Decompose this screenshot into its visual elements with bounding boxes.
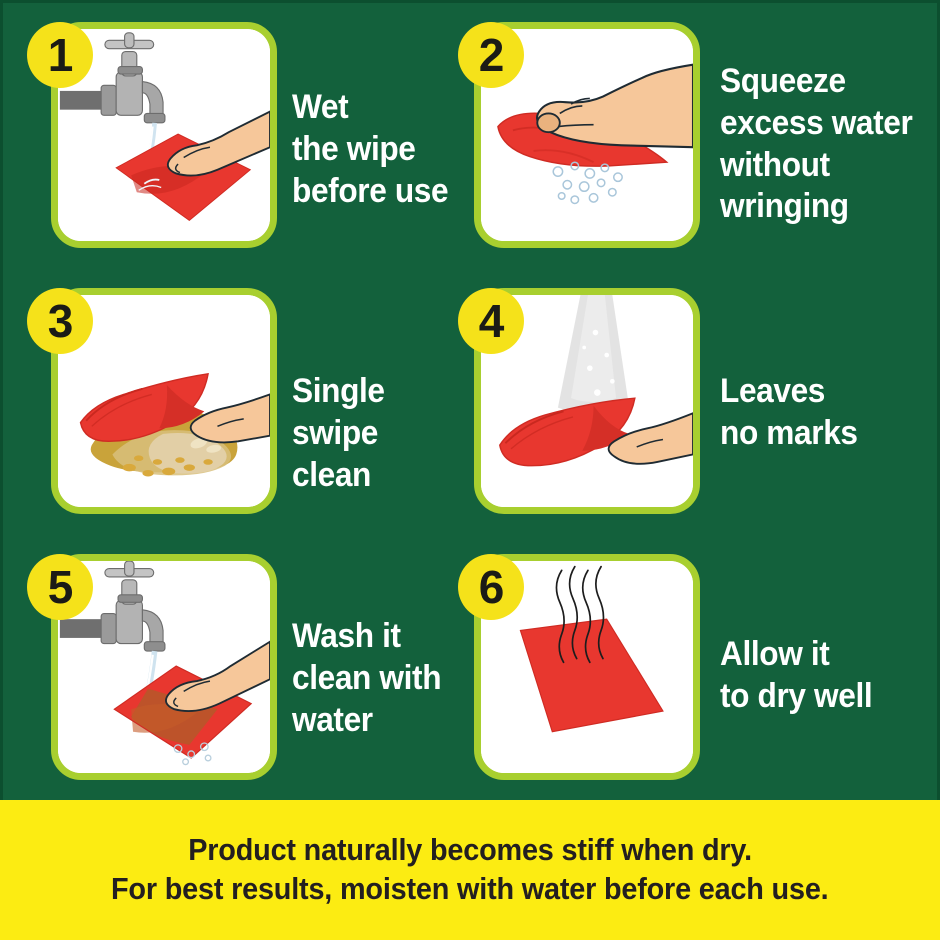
step-5-number: 5 xyxy=(27,554,93,620)
step-2: 2 Squeeze excess water without wringing xyxy=(450,0,940,266)
footer-line-1: Product naturally becomes stiff when dry… xyxy=(188,831,752,870)
step-6-caption: Allow it to dry well xyxy=(720,634,906,718)
footer-line-2: For best results, moisten with water bef… xyxy=(111,870,828,909)
step-4: 4 Leaves no marks xyxy=(450,266,940,532)
step-6: 6 Allow it to dry well xyxy=(450,532,940,798)
step-5: 5 Wash it clean with water xyxy=(0,532,470,798)
step-4-caption: Leaves no marks xyxy=(720,371,906,455)
step-6-number: 6 xyxy=(458,554,524,620)
steps-grid: 1 Wet the wipe before use xyxy=(0,0,940,800)
step-2-caption: Squeeze excess water without wringing xyxy=(720,61,923,228)
step-1: 1 Wet the wipe before use xyxy=(0,0,470,266)
step-1-number: 1 xyxy=(27,22,93,88)
step-3-number: 3 xyxy=(27,288,93,354)
step-3-caption: Single swipe clean xyxy=(292,371,465,496)
footer-banner: Product naturally becomes stiff when dry… xyxy=(0,800,940,940)
step-3: 3 Single swipe clean xyxy=(0,266,470,532)
step-5-caption: Wash it clean with water xyxy=(292,616,471,741)
step-1-caption: Wet the wipe before use xyxy=(292,87,459,212)
infographic-poster: 1 Wet the wipe before use xyxy=(0,0,940,940)
step-4-number: 4 xyxy=(458,288,524,354)
step-2-number: 2 xyxy=(458,22,524,88)
